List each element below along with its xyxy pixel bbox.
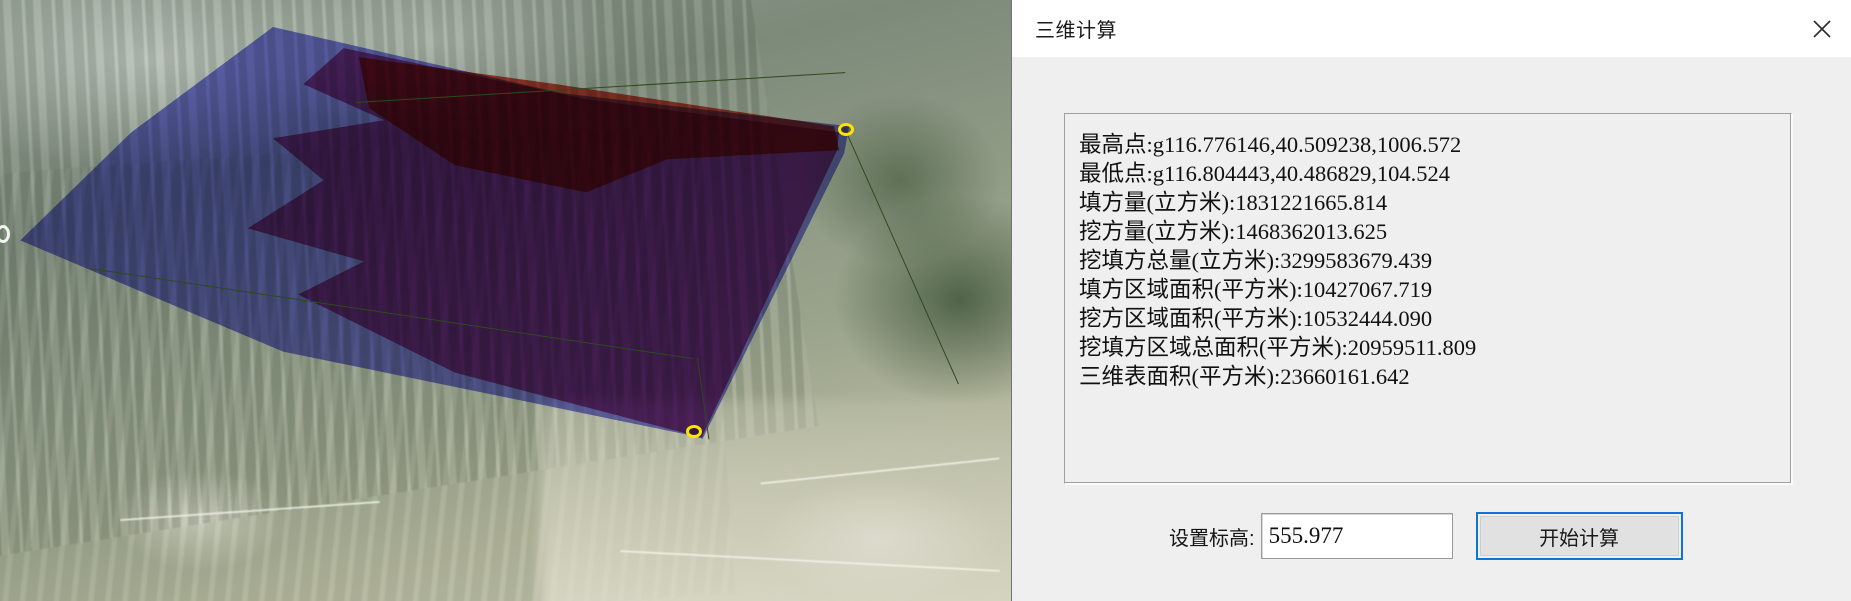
selection-polygon-outline (0, 0, 1011, 601)
elevation-label: 设置标高: (1169, 522, 1255, 551)
dialog-body: 最高点:g116.776146,40.509238,1006.572 最低点:g… (1012, 57, 1851, 601)
result-line-three-d-surface-area: 三维表面积(平方米):23660161.642 (1079, 362, 1777, 391)
result-line-total-area: 挖填方区域总面积(平方米):20959511.809 (1079, 333, 1777, 362)
polygon-vertex-handle[interactable] (686, 425, 702, 438)
three-d-map-viewport[interactable] (0, 0, 1011, 601)
elevation-input[interactable] (1261, 513, 1453, 559)
close-icon[interactable] (1793, 0, 1851, 57)
result-line-lowest-point: 最低点:g116.804443,40.486829,104.524 (1079, 159, 1777, 188)
results-groupbox: 最高点:g116.776146,40.509238,1006.572 最低点:g… (1064, 113, 1792, 484)
result-line-total-volume: 挖填方总量(立方米):3299583679.439 (1079, 246, 1777, 275)
page-title: 三维计算 (1035, 14, 1117, 43)
polygon-vertex-handle[interactable] (0, 225, 10, 243)
result-line-cut-area: 挖方区域面积(平方米):10532444.090 (1079, 304, 1777, 333)
dialog-titlebar: 三维计算 (1012, 0, 1851, 57)
three-d-calculation-screen: 三维计算 最高点:g116.776146,40.509238,1006.572 … (0, 0, 1851, 601)
cut-fill-overlay-group (0, 0, 1011, 601)
result-line-fill-volume: 填方量(立方米):1831221665.814 (1079, 188, 1777, 217)
polygon-edge (844, 128, 959, 384)
calculation-dialog-panel: 三维计算 最高点:g116.776146,40.509238,1006.572 … (1011, 0, 1851, 601)
result-line-fill-area: 填方区域面积(平方米):10427067.719 (1079, 275, 1777, 304)
calculate-button-focus-ring: 开始计算 (1476, 512, 1683, 560)
start-calculation-button[interactable]: 开始计算 (1480, 516, 1679, 556)
result-line-highest-point: 最高点:g116.776146,40.509238,1006.572 (1079, 130, 1777, 159)
result-line-cut-volume: 挖方量(立方米):1468362013.625 (1079, 217, 1777, 246)
results-list: 最高点:g116.776146,40.509238,1006.572 最低点:g… (1079, 130, 1777, 391)
polygon-vertex-handle[interactable] (838, 123, 854, 136)
dialog-footer-controls: 设置标高: 开始计算 (1012, 512, 1851, 560)
